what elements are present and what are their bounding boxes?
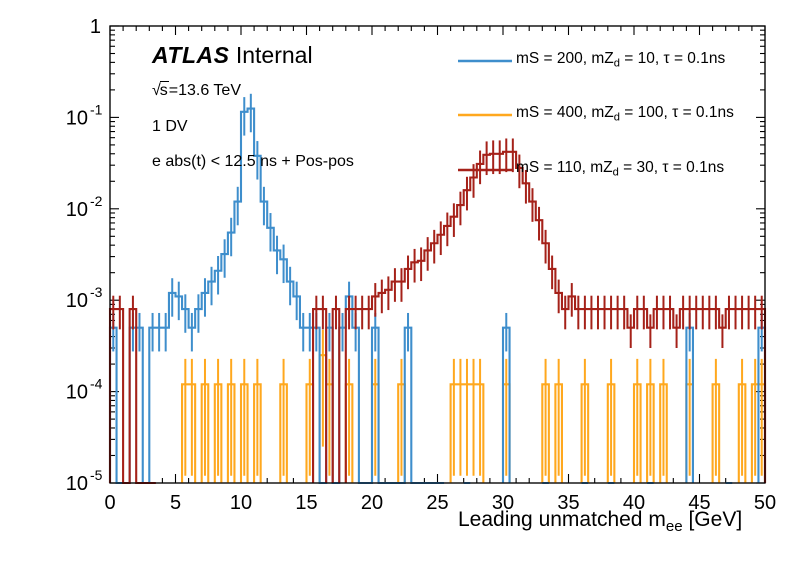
svg-text:0: 0 [104,492,115,514]
svg-text:10: 10 [66,199,88,221]
svg-text:25: 25 [426,492,448,514]
svg-text:10: 10 [66,382,88,404]
svg-text:15: 15 [295,492,317,514]
x-axis-title-main: Leading unmatched m [458,508,666,531]
energy-label: √s=13.6 TeV [152,82,241,100]
energy-value: =13.6 TeV [169,82,241,99]
histogram-plot: 0510152025303540455010-510-410-310-210-1… [0,0,796,572]
legend-entry-0: mS = 200, mZd = 10, τ = 0.1ns [516,50,725,70]
svg-text:5: 5 [170,492,181,514]
legend-label-tail-0: = 10, τ = 0.1ns [620,50,725,67]
svg-text:10: 10 [230,492,252,514]
svg-text:-1: -1 [90,101,103,117]
svg-text:10: 10 [66,473,88,495]
atlas-label: ATLAS Internal [152,42,313,69]
legend-label-tail-1: = 100, τ = 0.1ns [620,104,734,121]
x-axis-title-sub: ee [666,518,683,535]
x-axis-title-unit: [GeV] [688,508,742,531]
legend-entry-2: mS = 110, mZd = 30, τ = 0.1ns [516,159,724,179]
svg-text:-3: -3 [90,284,103,300]
svg-text:-4: -4 [90,376,103,392]
legend-label-main-0: mS = 200, mZ [516,50,614,67]
chart-canvas: 0510152025303540455010-510-410-310-210-1… [0,0,796,572]
svg-text:-2: -2 [90,193,103,209]
legend-label-main-2: mS = 110, mZ [516,159,613,176]
svg-text:-5: -5 [90,467,103,483]
legend-label-tail-2: = 30, τ = 0.1ns [619,159,724,176]
sqrt-s-var: s [160,81,169,99]
svg-text:1: 1 [90,16,101,38]
svg-text:50: 50 [754,492,776,514]
region-label: 1 DV [152,118,188,136]
atlas-experiment-text: ATLAS [152,42,229,68]
sqrt-symbol: √s [152,82,169,100]
x-axis-title: Leading unmatched mee [GeV] [458,508,742,535]
svg-text:10: 10 [66,107,88,129]
legend-label-main-1: mS = 400, mZ [516,104,614,121]
svg-text:10: 10 [66,290,88,312]
atlas-status-text: Internal [236,42,313,68]
selection-label: e abs(t) < 12.5 ns + Pos-pos [152,153,354,171]
svg-text:20: 20 [361,492,383,514]
legend-entry-1: mS = 400, mZd = 100, τ = 0.1ns [516,104,734,124]
